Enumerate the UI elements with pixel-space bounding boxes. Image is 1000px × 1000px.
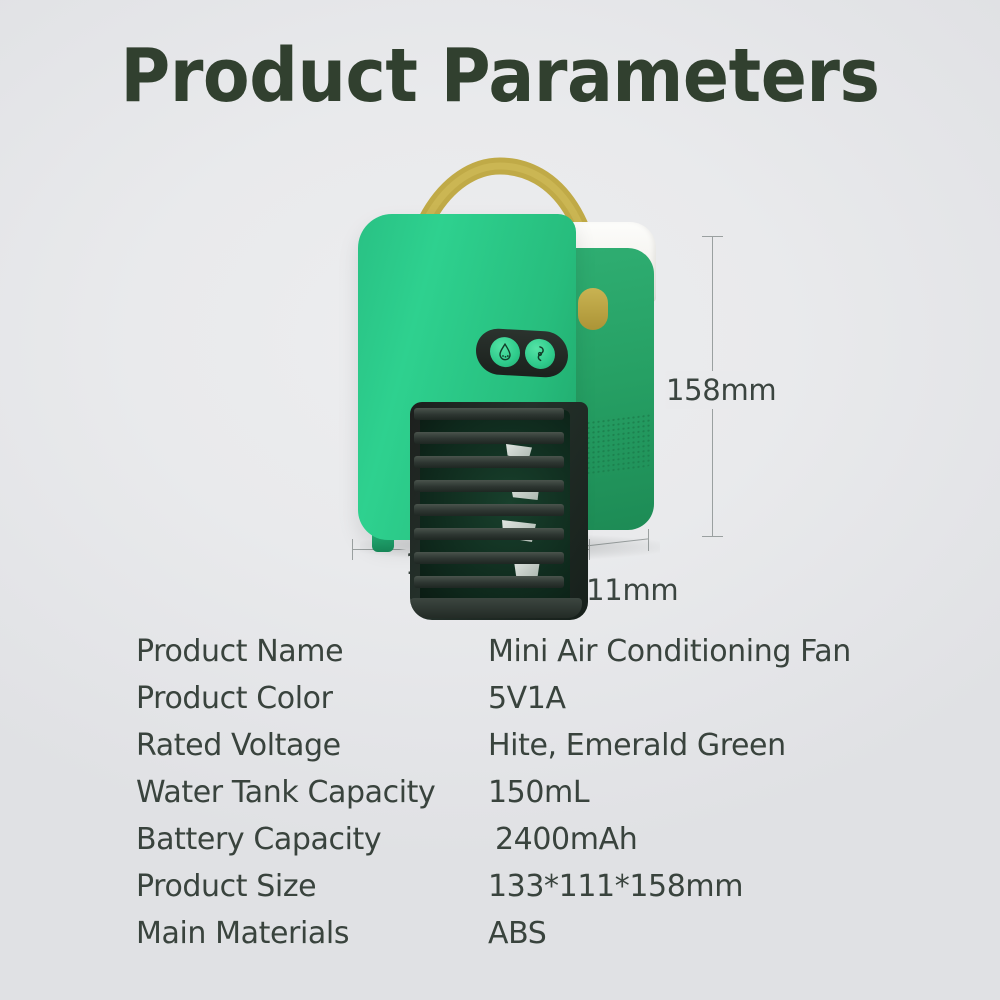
- spec-value: Hite, Emerald Green: [488, 728, 916, 763]
- height-dimension-label: 158mm: [662, 371, 780, 409]
- spec-value: Mini Air Conditioning Fan: [488, 634, 916, 669]
- fan-grille: [410, 402, 588, 620]
- product-parameters-page: Product Parameters: [0, 0, 1000, 1000]
- spec-value: 150mL: [488, 775, 916, 810]
- fan-button[interactable]: [525, 338, 555, 370]
- product-front-body: [358, 214, 576, 540]
- fan-power-icon: [532, 345, 548, 364]
- spec-label: Product Size: [136, 869, 488, 904]
- height-dimension-cap-top: [702, 236, 723, 237]
- table-row: Water Tank Capacity 150mL: [136, 775, 916, 822]
- specifications-table: Product Name Mini Air Conditioning Fan P…: [136, 634, 916, 963]
- table-row: Product Name Mini Air Conditioning Fan: [136, 634, 916, 681]
- product-image: [330, 130, 690, 560]
- height-dimension-cap-bottom: [702, 536, 723, 537]
- table-row: Battery Capacity 2400mAh: [136, 822, 916, 869]
- table-row: Rated Voltage Hite, Emerald Green: [136, 728, 916, 775]
- spec-label: Battery Capacity: [136, 822, 488, 857]
- spec-label: Product Name: [136, 634, 488, 669]
- table-row: Product Size 133*111*158mm: [136, 869, 916, 916]
- spec-value: ABS: [488, 916, 916, 951]
- water-drop-icon: [497, 343, 513, 362]
- handle-mount-right: [578, 288, 608, 330]
- spec-label: Product Color: [136, 681, 488, 716]
- spec-label: Rated Voltage: [136, 728, 488, 763]
- spec-label: Main Materials: [136, 916, 488, 951]
- table-row: Main Materials ABS: [136, 916, 916, 963]
- width-dimension-cap-left: [352, 539, 353, 560]
- page-title: Product Parameters: [40, 38, 960, 116]
- table-row: Product Color 5V1A: [136, 681, 916, 728]
- mist-button[interactable]: [490, 336, 520, 368]
- spec-value: 5V1A: [488, 681, 916, 716]
- spec-label: Water Tank Capacity: [136, 775, 488, 810]
- control-panel: [476, 328, 568, 379]
- spec-value: 2400mAh: [488, 822, 916, 857]
- spec-value: 133*111*158mm: [488, 869, 916, 904]
